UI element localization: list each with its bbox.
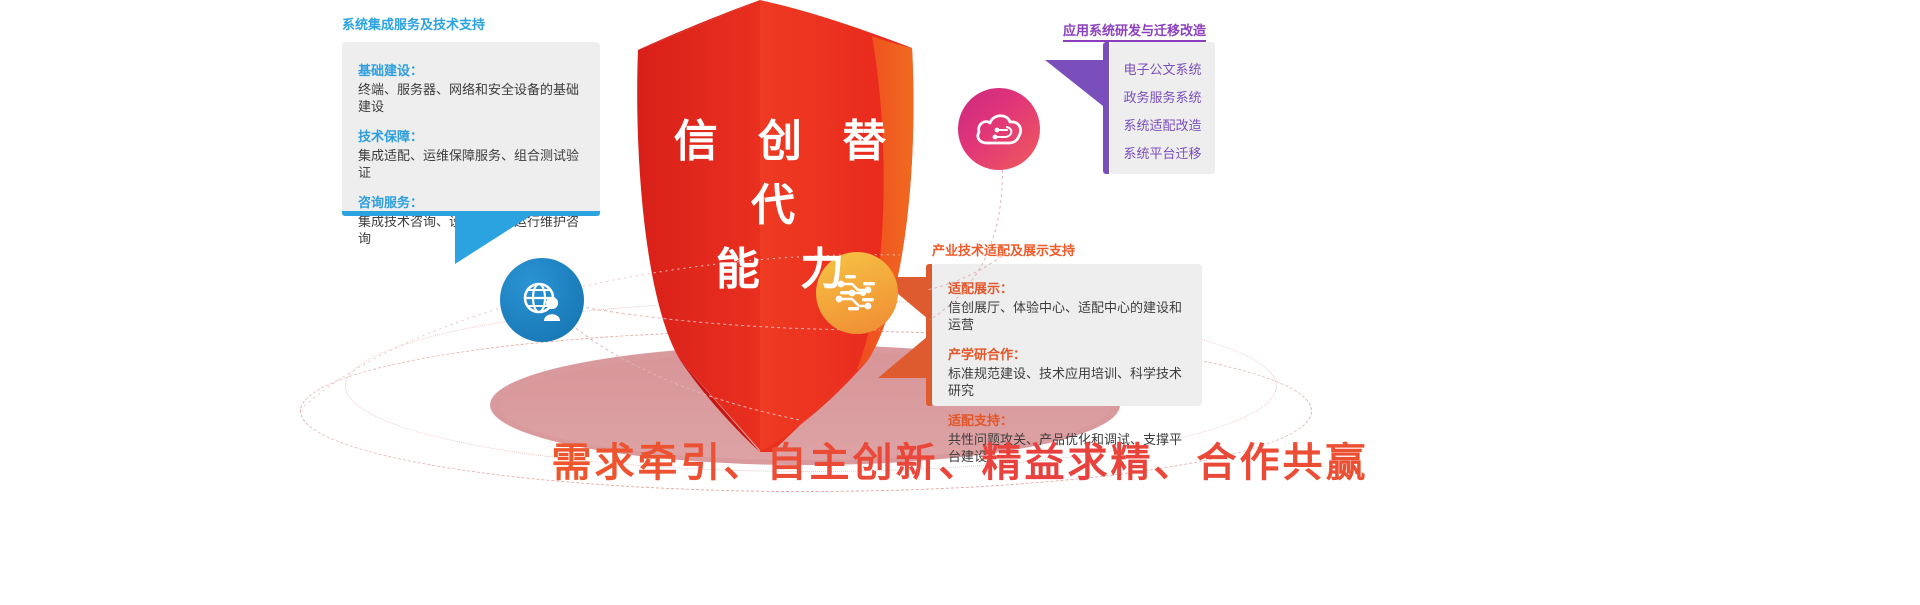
panel-bottom-right-pointer-bottom bbox=[878, 336, 928, 378]
panel-right-pointer bbox=[1045, 60, 1103, 106]
infographic-canvas: 信 创 替 代 能 力 系统集成服务及技术支持 基础建设： 终端、服务器、网络和… bbox=[0, 0, 1920, 605]
bottom-tagline: 需求牵引、自主创新、精益求精、合作共赢 bbox=[0, 430, 1920, 488]
panel-left-pointer bbox=[455, 216, 530, 264]
circuit-chip-icon bbox=[816, 252, 898, 334]
cloud-migration-icon bbox=[958, 88, 1040, 170]
globe-user-icon bbox=[500, 258, 584, 342]
connector-curves bbox=[0, 0, 1920, 605]
